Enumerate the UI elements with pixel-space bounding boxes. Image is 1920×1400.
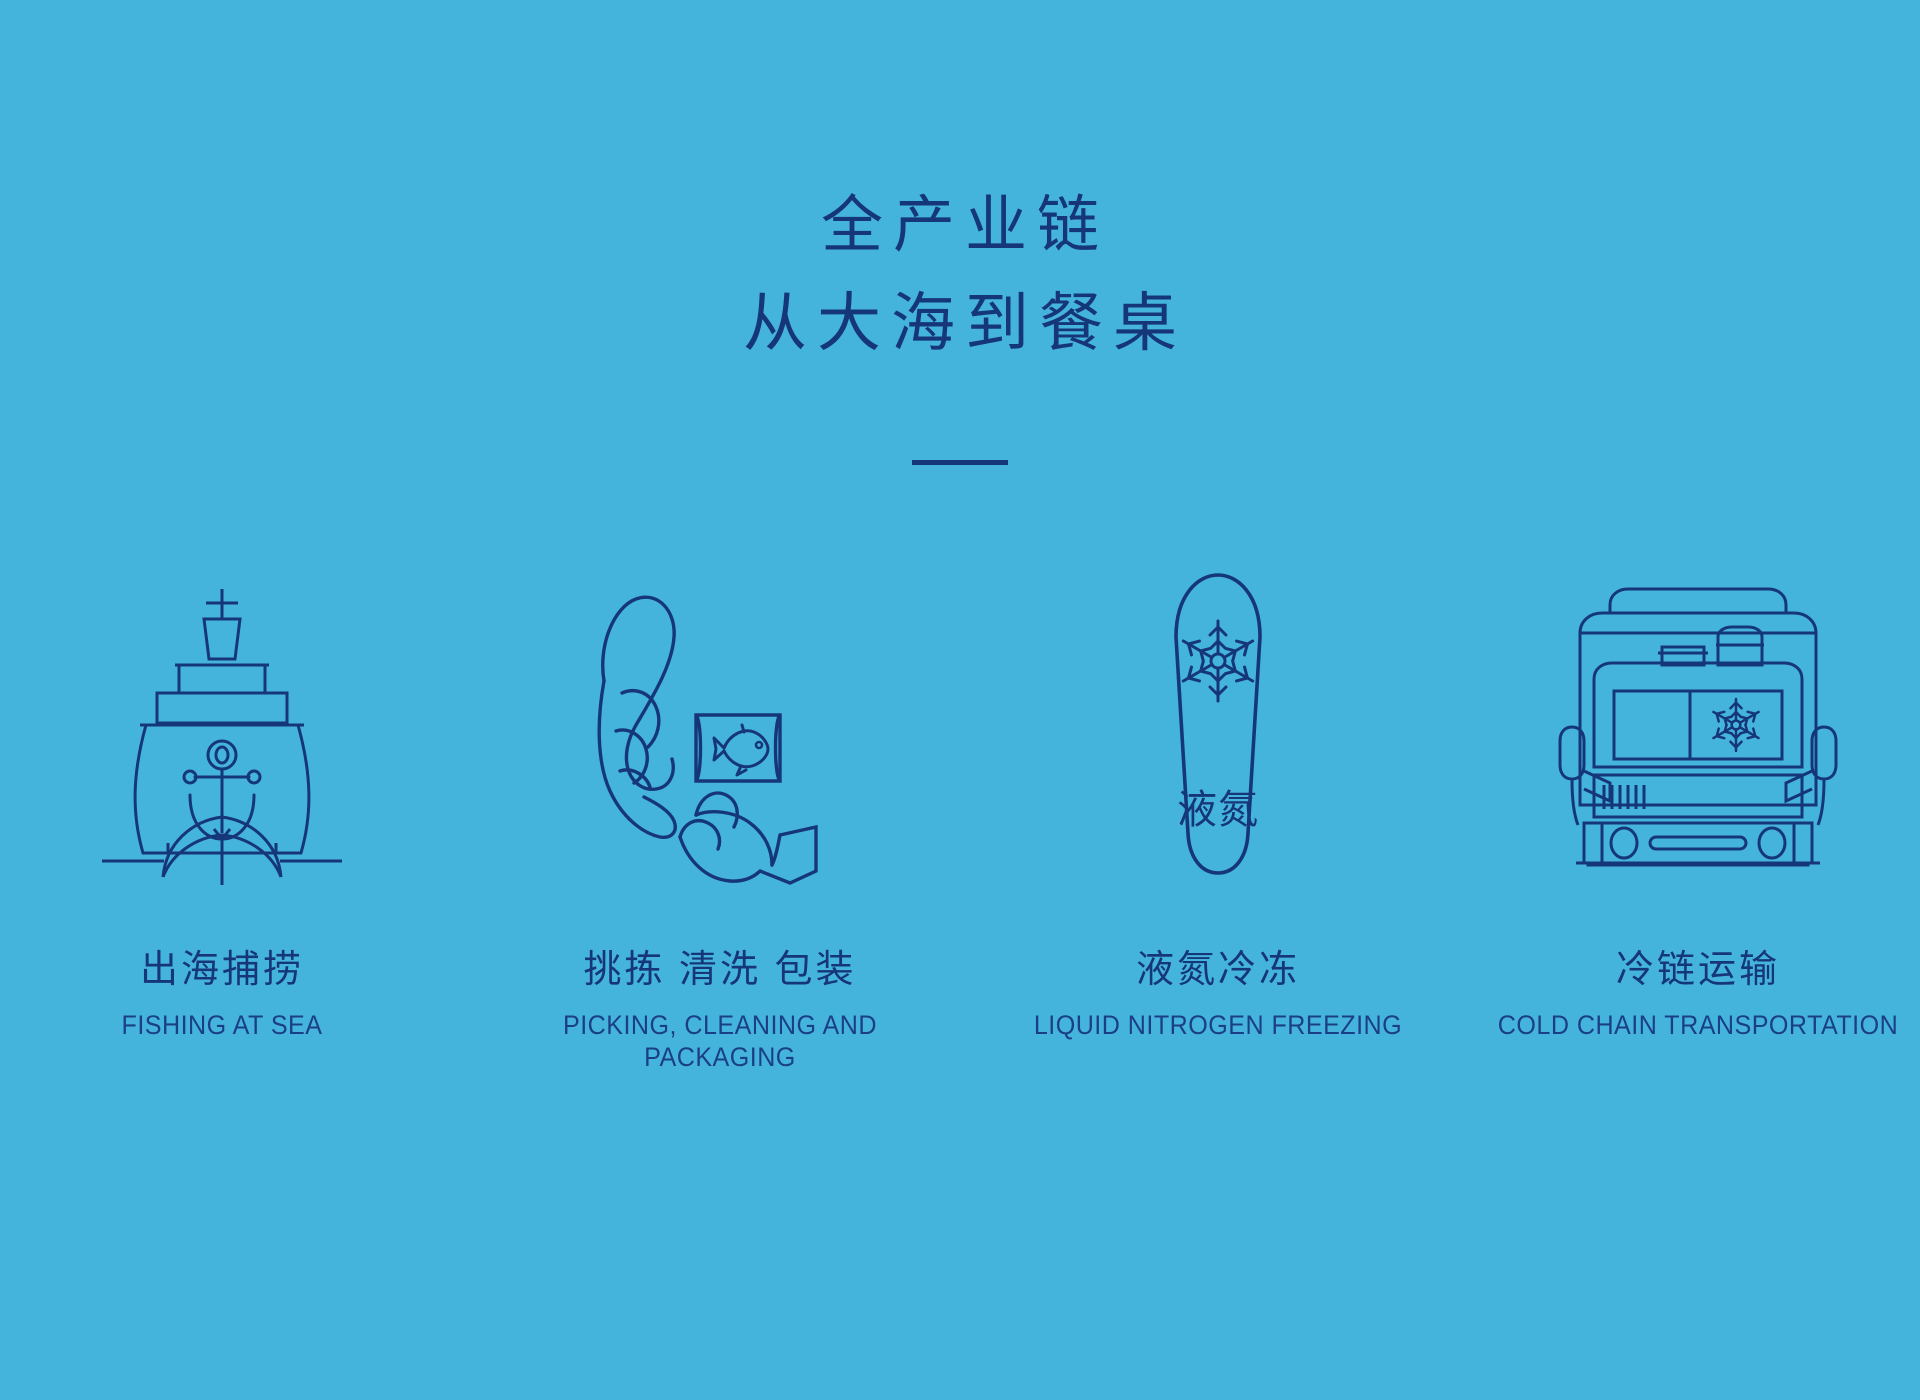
step-title-en: LIQUID NITROGEN FREEZING: [995, 1009, 1441, 1041]
tank-label: 液氮: [1177, 788, 1259, 832]
title-line-primary: 全产业链: [0, 178, 1920, 274]
title-divider: [912, 460, 1008, 465]
step-title-en: FISHING AT SEA: [0, 1009, 445, 1041]
fishing-boat-icon: [102, 545, 342, 885]
step-title-cn: 液氮冷冻: [978, 947, 1458, 995]
snowflake-icon: [1179, 621, 1256, 701]
step-cold-chain-transportation: 冷链运输 COLD CHAIN TRANSPORTATION: [1440, 545, 1920, 1165]
refrigerated-truck-icon: [1558, 545, 1838, 885]
step-title-cn: 冷链运输: [1458, 947, 1920, 995]
step-title-en: PICKING, CLEANING AND PACKAGING: [497, 1009, 943, 1074]
title-line-secondary: 从大海到餐桌: [0, 274, 1920, 373]
step-fishing-at-sea: 出海捕捞 FISHING AT SEA: [0, 545, 480, 1165]
step-liquid-nitrogen-freezing: 液氮 液氮冷冻 LIQUID NITROGEN FREEZING: [960, 545, 1440, 1165]
process-steps: 出海捕捞 FISHING AT SEA: [0, 545, 1920, 1165]
step-title-cn: 挑拣 清洗 包装: [480, 947, 960, 995]
step-caption: 冷链运输 COLD CHAIN TRANSPORTATION: [1458, 947, 1920, 1041]
liquid-nitrogen-tank-icon: 液氮: [1143, 545, 1293, 885]
lower-hand-icon: [680, 793, 816, 883]
step-title-cn: 出海捕捞: [0, 947, 462, 995]
step-title-en: COLD CHAIN TRANSPORTATION: [1475, 1009, 1920, 1041]
hands-packaged-fish-icon: [584, 545, 844, 885]
step-caption: 液氮冷冻 LIQUID NITROGEN FREEZING: [978, 947, 1458, 1041]
step-caption: 出海捕捞 FISHING AT SEA: [0, 947, 462, 1041]
page-title: 全产业链 从大海到餐桌: [0, 178, 1920, 373]
snowflake-icon: [1711, 699, 1762, 751]
step-caption: 挑拣 清洗 包装 PICKING, CLEANING AND PACKAGING: [480, 947, 960, 1073]
infographic-canvas: 全产业链 从大海到餐桌: [0, 0, 1920, 1400]
step-picking-cleaning-packaging: 挑拣 清洗 包装 PICKING, CLEANING AND PACKAGING: [480, 545, 960, 1165]
upper-hand-icon: [599, 597, 675, 837]
packaged-fish-icon: [696, 715, 780, 781]
